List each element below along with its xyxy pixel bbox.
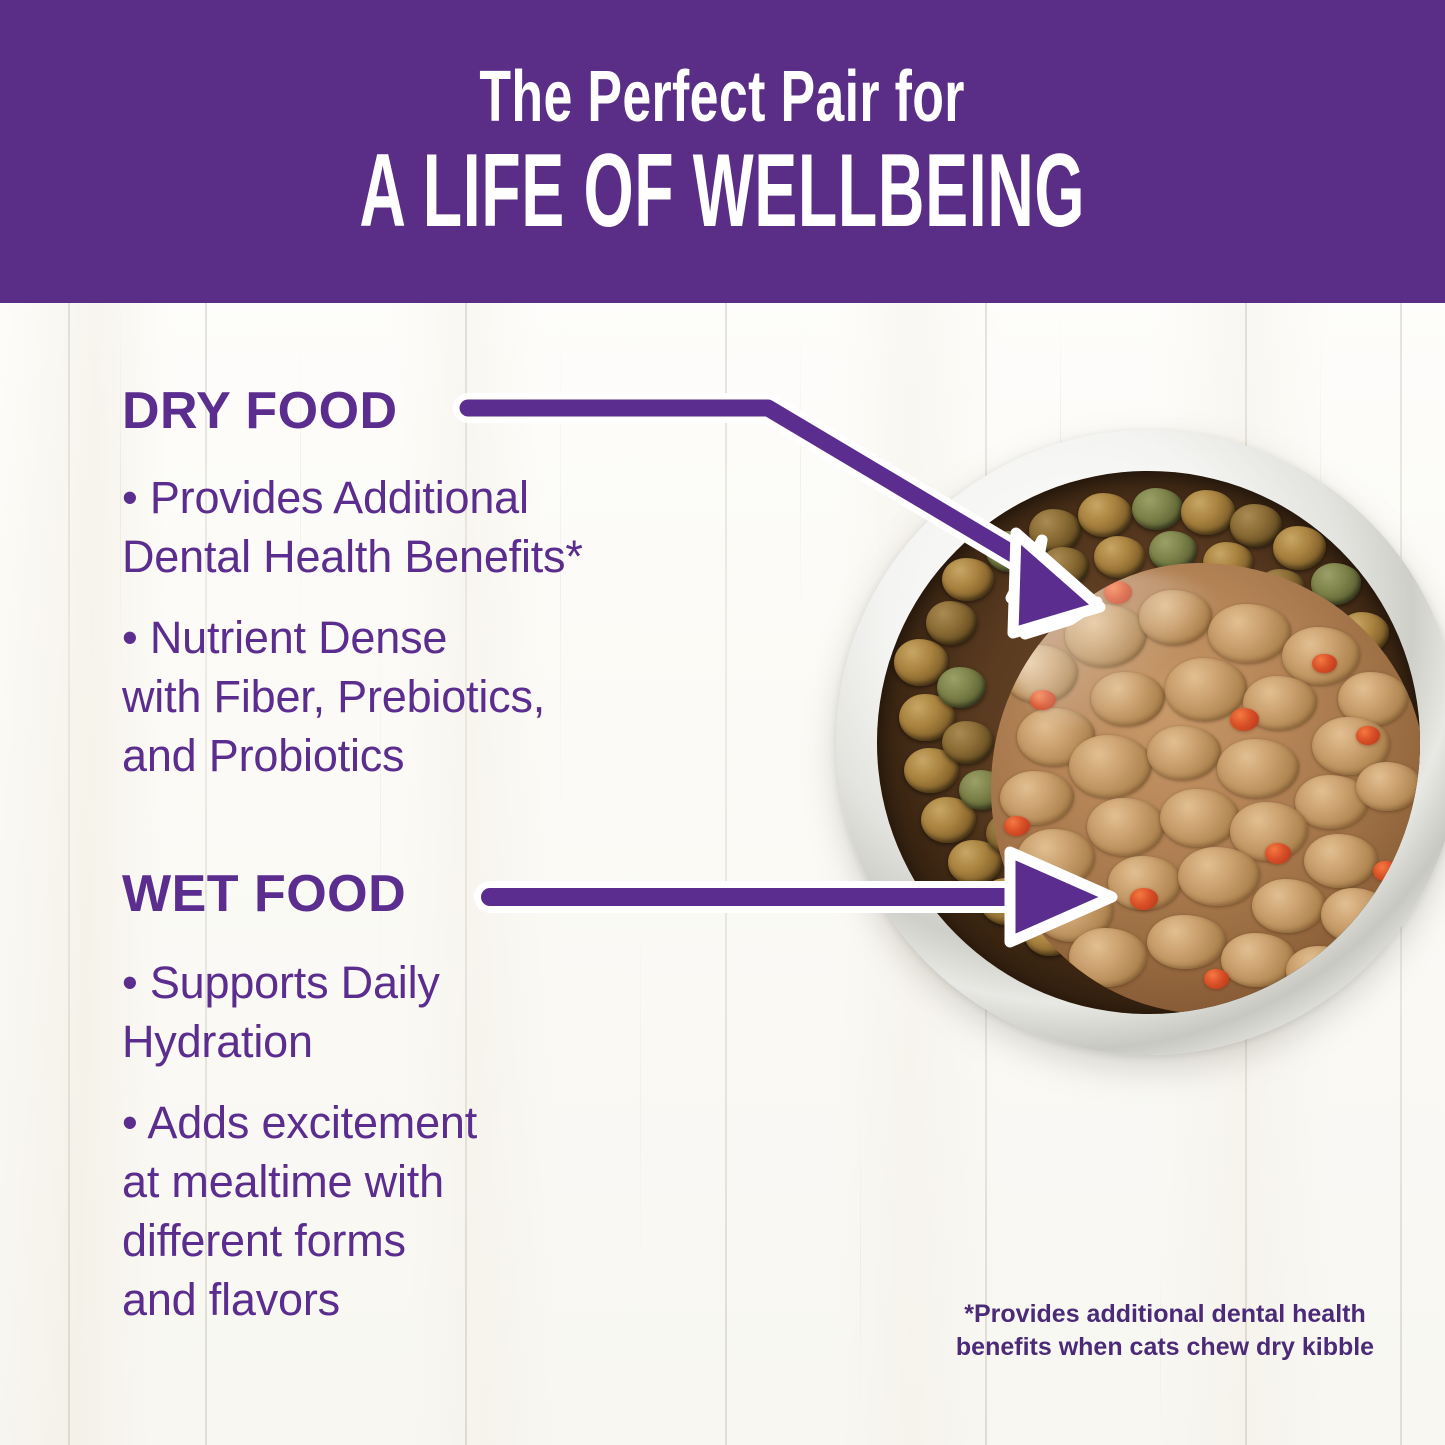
wet-food-bullet-2: • Adds excitement at mealtime with diffe… [122,1093,802,1329]
copy-column: DRY FOOD • Provides Additional Dental He… [0,303,860,1445]
dry-food-bullet-1: • Provides Additional Dental Health Bene… [122,468,802,586]
stainless-bowl [836,430,1445,1055]
wet-food-bullet-1: • Supports Daily Hydration [122,953,802,1071]
section-title-dry-food: DRY FOOD [122,385,398,437]
header-banner: The Perfect Pair for A LIFE OF WELLBEING [0,0,1445,303]
dry-food-bullet-2: • Nutrient Dense with Fiber, Prebiotics,… [122,608,802,785]
pet-food-bowl-photo [836,430,1445,1258]
wet-food-portion [991,563,1420,1013]
bowl-interior [877,471,1420,1014]
headline-line-2: A LIFE OF WELLBEING [360,139,1086,243]
section-title-wet-food: WET FOOD [122,868,406,920]
advertisement-page: The Perfect Pair for A LIFE OF WELLBEING [0,0,1445,1445]
headline-line-1: The Perfect Pair for [480,61,965,133]
footnote-text: *Provides additional dental health benef… [955,1298,1375,1364]
